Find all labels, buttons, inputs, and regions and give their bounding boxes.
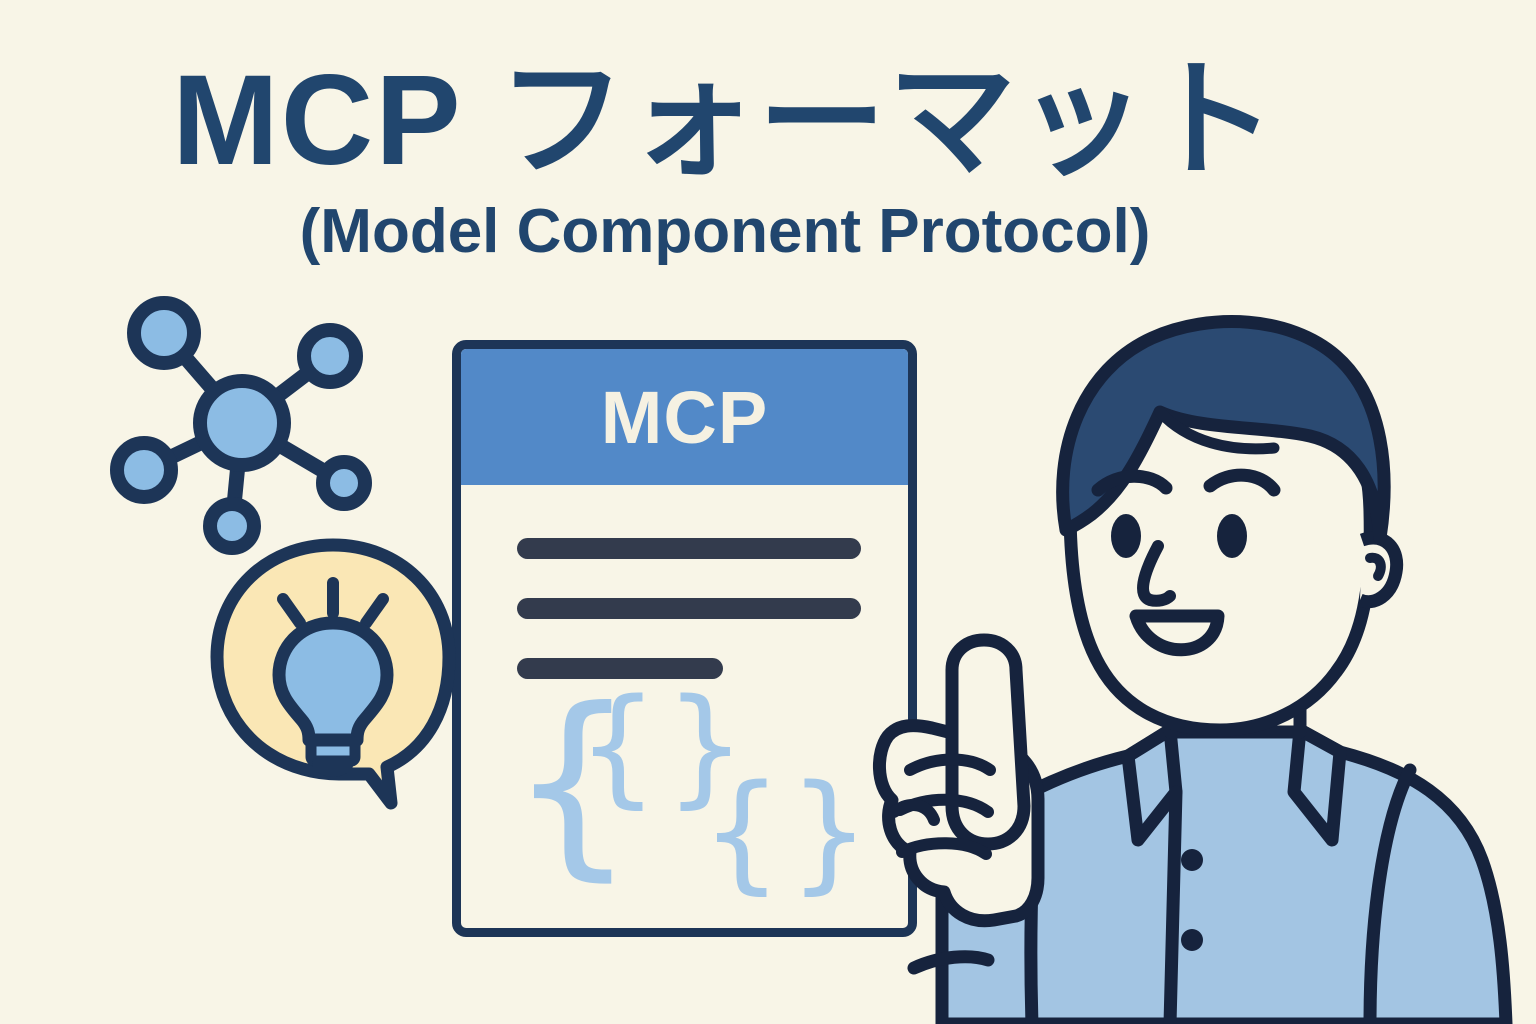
page-title: MCP フォーマット [0,52,1450,190]
poster-canvas: MCP フォーマット (Model Component Protocol) [0,0,1536,1024]
document-text-line [517,598,861,619]
title-block: MCP フォーマット (Model Component Protocol) [0,52,1450,267]
shirt-button [1181,929,1203,951]
document-header-band: MCP [461,349,908,485]
eye [1111,514,1141,558]
presenter-illustration [870,300,1536,1024]
code-brace-pair: {} [701,769,876,897]
document-header-label: MCP [601,375,768,460]
page-subtitle: (Model Component Protocol) [0,196,1450,267]
shirt-button [1181,849,1203,871]
mcp-document-card[interactable]: MCP { {} {} [452,340,917,937]
eye [1217,514,1247,558]
document-body: { {} {} [461,485,908,937]
pointing-hand [879,640,1038,921]
document-text-line [517,538,861,559]
head-group [1063,322,1397,730]
network-nodes-icon [92,278,392,568]
lightbulb-speech-bubble [205,535,465,810]
